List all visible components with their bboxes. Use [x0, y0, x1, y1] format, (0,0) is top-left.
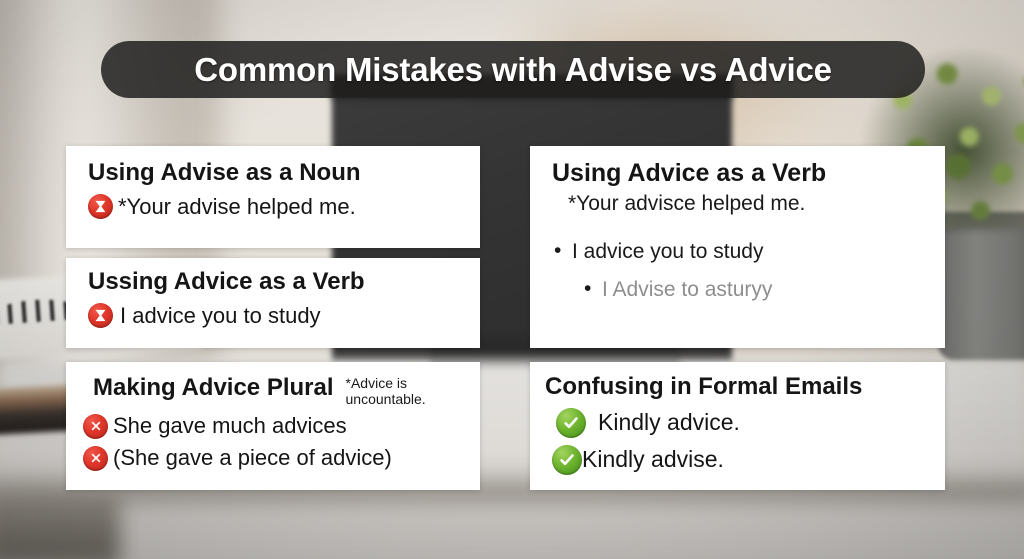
red-x-icon	[88, 194, 113, 219]
card-title: Making Advice Plural	[93, 375, 334, 402]
card-line: *Your advise helped me.	[88, 194, 480, 220]
card-line-text: Kindly advice.	[598, 409, 740, 436]
card-line: (She gave a piece of advice)	[83, 445, 480, 471]
card-confusing-in-formal-emails: Confusing in Formal Emails Kindly advice…	[530, 362, 945, 490]
card-line-text: I advice you to study	[120, 303, 321, 329]
list-item: I advice you to study	[572, 240, 945, 264]
card-header-row: Making Advice Plural *Advice is uncounta…	[93, 375, 480, 407]
card-title: Using Advise as a Noun	[88, 160, 480, 187]
card-line: Kindly advice.	[556, 408, 945, 438]
red-x-icon	[83, 446, 108, 471]
card-side-note: *Advice is uncountable.	[346, 376, 426, 407]
card-line-text: Kindly advise.	[582, 446, 724, 473]
card-title: Ussing Advice as a Verb	[88, 269, 480, 296]
green-check-icon	[552, 445, 582, 475]
card-ussing-advice-as-verb: Ussing Advice as a Verb I advice you to …	[66, 258, 480, 348]
card-line-text: She gave much advices	[113, 413, 347, 439]
card-line: Kindly advise.	[552, 445, 945, 475]
slide-canvas: Common Mistakes with Advise vs Advice Us…	[0, 0, 1024, 559]
card-line: She gave much advices	[83, 413, 480, 439]
card-title: Using Advice as a Verb	[552, 159, 945, 187]
card-line-text: (She gave a piece of advice)	[113, 445, 392, 471]
card-using-advise-as-noun: Using Advise as a Noun *Your advise help…	[66, 146, 480, 248]
bullet-text-garbled: I Advise to asturyy	[602, 278, 772, 301]
red-x-icon	[88, 303, 113, 328]
title-banner: Common Mistakes with Advise vs Advice	[101, 41, 925, 98]
bullet-text: I advice you to study	[572, 240, 763, 263]
card-using-advice-as-verb: Using Advice as a Verb *Your advisce hel…	[530, 146, 945, 348]
list-item: I Advise to asturyy	[602, 278, 945, 302]
card-bullet-list: I advice you to study I Advise to astury…	[530, 240, 945, 302]
page-title: Common Mistakes with Advise vs Advice	[194, 51, 832, 89]
card-line-text: *Your advise helped me.	[118, 194, 356, 220]
red-x-icon	[83, 414, 108, 439]
card-making-advice-plural: Making Advice Plural *Advice is uncounta…	[66, 362, 480, 490]
card-subtitle: *Your advisce helped me.	[568, 192, 945, 216]
card-line: I advice you to study	[88, 303, 480, 329]
card-title: Confusing in Formal Emails	[545, 374, 945, 401]
green-check-icon	[556, 408, 586, 438]
